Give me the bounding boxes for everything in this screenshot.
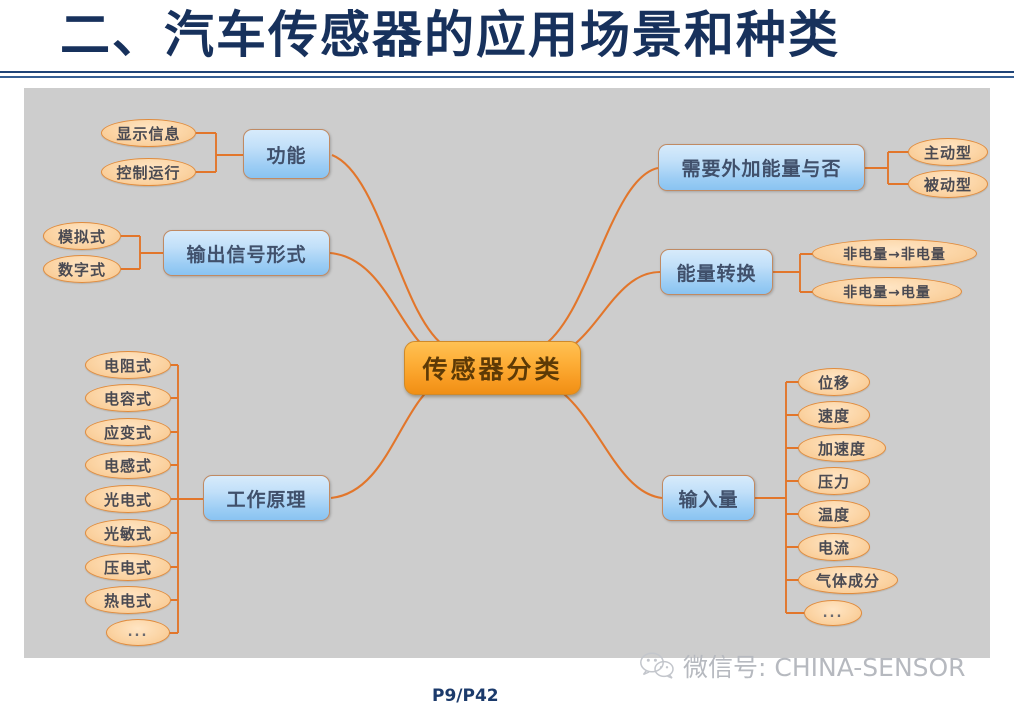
leaf-label: 光敏式: [104, 523, 152, 544]
watermark: 微信号: CHINA-SENSOR: [640, 648, 966, 684]
leaf-input-4[interactable]: 温度: [798, 500, 870, 528]
leaf-principle-8[interactable]: ...: [106, 619, 170, 646]
link-center-input: [542, 380, 662, 498]
leaf-function-0[interactable]: 显示信息: [101, 119, 196, 147]
leaf-label: 电阻式: [104, 355, 152, 376]
leaf-label: 气体成分: [816, 570, 880, 591]
leaf-label: 被动型: [924, 174, 972, 195]
leaf-output-1[interactable]: 数字式: [43, 255, 121, 283]
leaf-label: 压力: [818, 471, 850, 492]
branch-label-energy-conversion: 能量转换: [676, 259, 756, 286]
page-number: P9/P42: [432, 686, 499, 706]
leaf-label: 控制运行: [116, 162, 180, 183]
leaf-label: ...: [128, 625, 149, 640]
branch-node-output-signal-form[interactable]: 输出信号形式: [163, 230, 330, 276]
leaf-energy-conversion-0[interactable]: 非电量→非电量: [812, 239, 977, 268]
slide-root: 二、汽车传感器的应用场景和种类: [0, 0, 1014, 719]
branch-node-working-principle[interactable]: 工作原理: [203, 475, 330, 521]
branch-node-energy-conversion[interactable]: 能量转换: [660, 249, 773, 295]
leaf-label: 位移: [818, 372, 850, 393]
leaf-principle-1[interactable]: 电容式: [85, 384, 171, 412]
leaf-external-energy-1[interactable]: 被动型: [908, 170, 988, 198]
leaf-label: 电容式: [104, 388, 152, 409]
leaf-principle-6[interactable]: 压电式: [85, 553, 171, 581]
branch-label-external-energy: 需要外加能量与否: [681, 154, 841, 181]
branch-label-working-principle: 工作原理: [226, 485, 306, 512]
leaf-principle-4[interactable]: 光电式: [85, 485, 171, 513]
leaf-label: 显示信息: [116, 123, 180, 144]
leaf-principle-2[interactable]: 应变式: [85, 418, 171, 446]
link-center-energy-need: [540, 168, 658, 348]
leaf-label: 温度: [818, 504, 850, 525]
leaf-input-2[interactable]: 加速度: [798, 434, 886, 462]
link-center-principle: [331, 378, 444, 498]
leaf-input-1[interactable]: 速度: [798, 401, 870, 429]
leaf-label: 非电量→电量: [843, 282, 931, 302]
leaf-principle-7[interactable]: 热电式: [85, 586, 171, 614]
branch-label-function: 功能: [266, 141, 306, 168]
leaf-input-6[interactable]: 气体成分: [798, 566, 898, 594]
branch-label-input-quantity: 输入量: [678, 485, 738, 512]
leaf-label: 速度: [818, 405, 850, 426]
leaf-label: 光电式: [104, 489, 152, 510]
leaf-input-3[interactable]: 压力: [798, 467, 870, 495]
branch-node-function[interactable]: 功能: [243, 129, 330, 179]
branch-label-output-signal-form: 输出信号形式: [186, 240, 306, 267]
leaf-function-1[interactable]: 控制运行: [101, 158, 196, 186]
leaf-label: 应变式: [104, 422, 152, 443]
watermark-text: 微信号: CHINA-SENSOR: [683, 648, 966, 684]
wechat-icon: [640, 652, 674, 680]
leaf-principle-5[interactable]: 光敏式: [85, 519, 171, 547]
leaf-external-energy-0[interactable]: 主动型: [908, 138, 988, 166]
leaf-label: 非电量→非电量: [843, 244, 946, 264]
leaf-principle-0[interactable]: 电阻式: [85, 351, 171, 379]
leaf-label: 数字式: [58, 259, 106, 280]
leaf-input-0[interactable]: 位移: [798, 368, 870, 396]
leaf-label: 电感式: [104, 455, 152, 476]
leaf-principle-3[interactable]: 电感式: [85, 451, 171, 479]
leaf-label: 压电式: [104, 557, 152, 578]
leaf-label: 加速度: [818, 438, 866, 459]
leaf-label: 热电式: [104, 590, 152, 611]
branch-node-external-energy[interactable]: 需要外加能量与否: [658, 144, 865, 191]
leaf-energy-conversion-1[interactable]: 非电量→电量: [812, 277, 962, 306]
leaf-input-5[interactable]: 电流: [798, 533, 870, 561]
leaf-label: 模拟式: [58, 226, 106, 247]
center-node[interactable]: 传感器分类: [404, 341, 581, 395]
leaf-input-7[interactable]: ...: [804, 600, 862, 626]
leaf-output-0[interactable]: 模拟式: [43, 222, 121, 250]
leaf-label: ...: [823, 606, 844, 621]
center-node-label: 传感器分类: [422, 350, 562, 386]
branch-node-input-quantity[interactable]: 输入量: [662, 475, 755, 521]
leaf-label: 主动型: [924, 142, 972, 163]
link-center-function: [332, 155, 447, 348]
leaf-label: 电流: [818, 537, 850, 558]
